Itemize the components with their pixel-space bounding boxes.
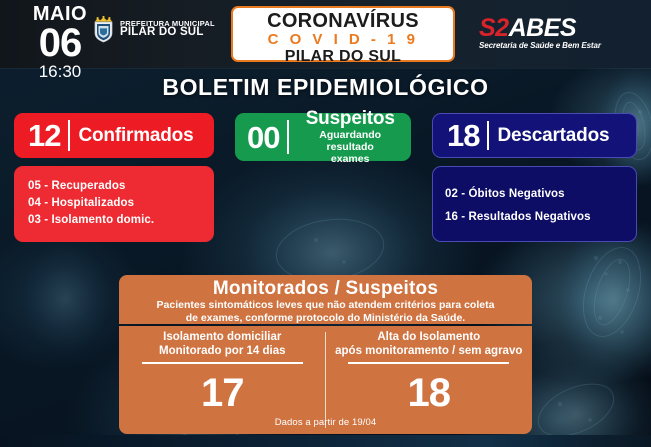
- suspeitos-sub-line1: Aguardando resultado: [297, 129, 403, 153]
- card-suspeitos-header: 00 Suspeitos Aguardando resultado exames: [235, 113, 411, 161]
- column-head-line2: Monitorado por 14 dias: [119, 345, 326, 359]
- list-item: 05 - Recuperados: [28, 178, 214, 195]
- card-confirmados-header: 12 Confirmados: [14, 113, 214, 158]
- abes-wordmark: S2ABES: [479, 16, 614, 41]
- prefeitura-logo: PREFEITURA MUNICIPAL PILAR DO SUL: [92, 16, 215, 43]
- monitorados-desc-line1: Pacientes sintomáticos leves que não ate…: [119, 299, 532, 312]
- column-value: 18: [326, 372, 533, 414]
- monitorados-title: Monitorados / Suspeitos: [119, 278, 532, 299]
- page-title: BOLETIM EPIDEMIOLÓGICO: [0, 74, 651, 101]
- divider: [487, 121, 489, 150]
- suspeitos-text-block: Suspeitos Aguardando resultado exames: [297, 109, 411, 165]
- column-head-line1: Isolamento domiciliar: [119, 331, 326, 345]
- suspeitos-label: Suspeitos: [297, 109, 403, 129]
- descartados-count: 18: [433, 120, 479, 151]
- descartados-label: Descartados: [497, 126, 609, 146]
- suspeitos-sub-line2: exames: [297, 153, 403, 165]
- abes-logo: S2ABES Secretaria de Saúde e Bem Estar: [479, 16, 614, 51]
- abes-mark: S2: [479, 14, 509, 42]
- header-bar: MAIO 06 16:30 PREFEITURA MUNICIPAL PILAR…: [0, 0, 651, 68]
- banner-city: PILAR DO SUL: [233, 48, 453, 65]
- list-item: 03 - Isolamento domic.: [28, 212, 214, 229]
- abes-subtitle: Secretaria de Saúde e Bem Estar: [479, 41, 614, 51]
- column-head-line2: após monitoramento / sem agravo: [326, 345, 533, 359]
- confirmados-label: Confirmados: [78, 126, 193, 146]
- divider: [348, 362, 509, 364]
- column-value: 17: [119, 372, 326, 414]
- confirmados-count: 12: [14, 120, 60, 151]
- coronavirus-banner: CORONAVÍRUS C O V I D - 1 9 PILAR DO SUL: [231, 6, 455, 62]
- prefeitura-line2: PILAR DO SUL: [120, 27, 215, 39]
- epidemiological-bulletin-poster: MAIO 06 16:30 PREFEITURA MUNICIPAL PILAR…: [0, 0, 651, 447]
- list-item: 04 - Hospitalizados: [28, 195, 214, 212]
- banner-title: CORONAVÍRUS: [233, 11, 453, 32]
- divider: [287, 120, 289, 154]
- monitorados-header: Monitorados / Suspeitos Pacientes sintom…: [119, 275, 532, 324]
- abes-name: ABES: [509, 14, 576, 42]
- suspeitos-count: 00: [235, 122, 279, 153]
- banner-covid-label: C O V I D - 1 9: [233, 32, 453, 48]
- prefeitura-text: PREFEITURA MUNICIPAL PILAR DO SUL: [120, 20, 215, 39]
- card-descartados-details: 02 - Óbitos Negativos 16 - Resultados Ne…: [432, 166, 637, 242]
- divider: [142, 362, 303, 364]
- card-confirmados-details: 05 - Recuperados 04 - Hospitalizados 03 …: [14, 166, 214, 242]
- list-item: 16 - Resultados Negativos: [445, 206, 636, 229]
- monitorados-desc-line2: de exames, conforme protocolo do Ministé…: [119, 312, 532, 325]
- card-descartados-header: 18 Descartados: [432, 113, 637, 158]
- divider: [68, 120, 70, 151]
- list-item: 02 - Óbitos Negativos: [445, 183, 636, 206]
- bottom-strip: [0, 435, 651, 447]
- column-head-line1: Alta do Isolamento: [326, 331, 533, 345]
- coat-of-arms-icon: [92, 16, 115, 43]
- footnote: Dados a partir de 19/04: [0, 417, 651, 428]
